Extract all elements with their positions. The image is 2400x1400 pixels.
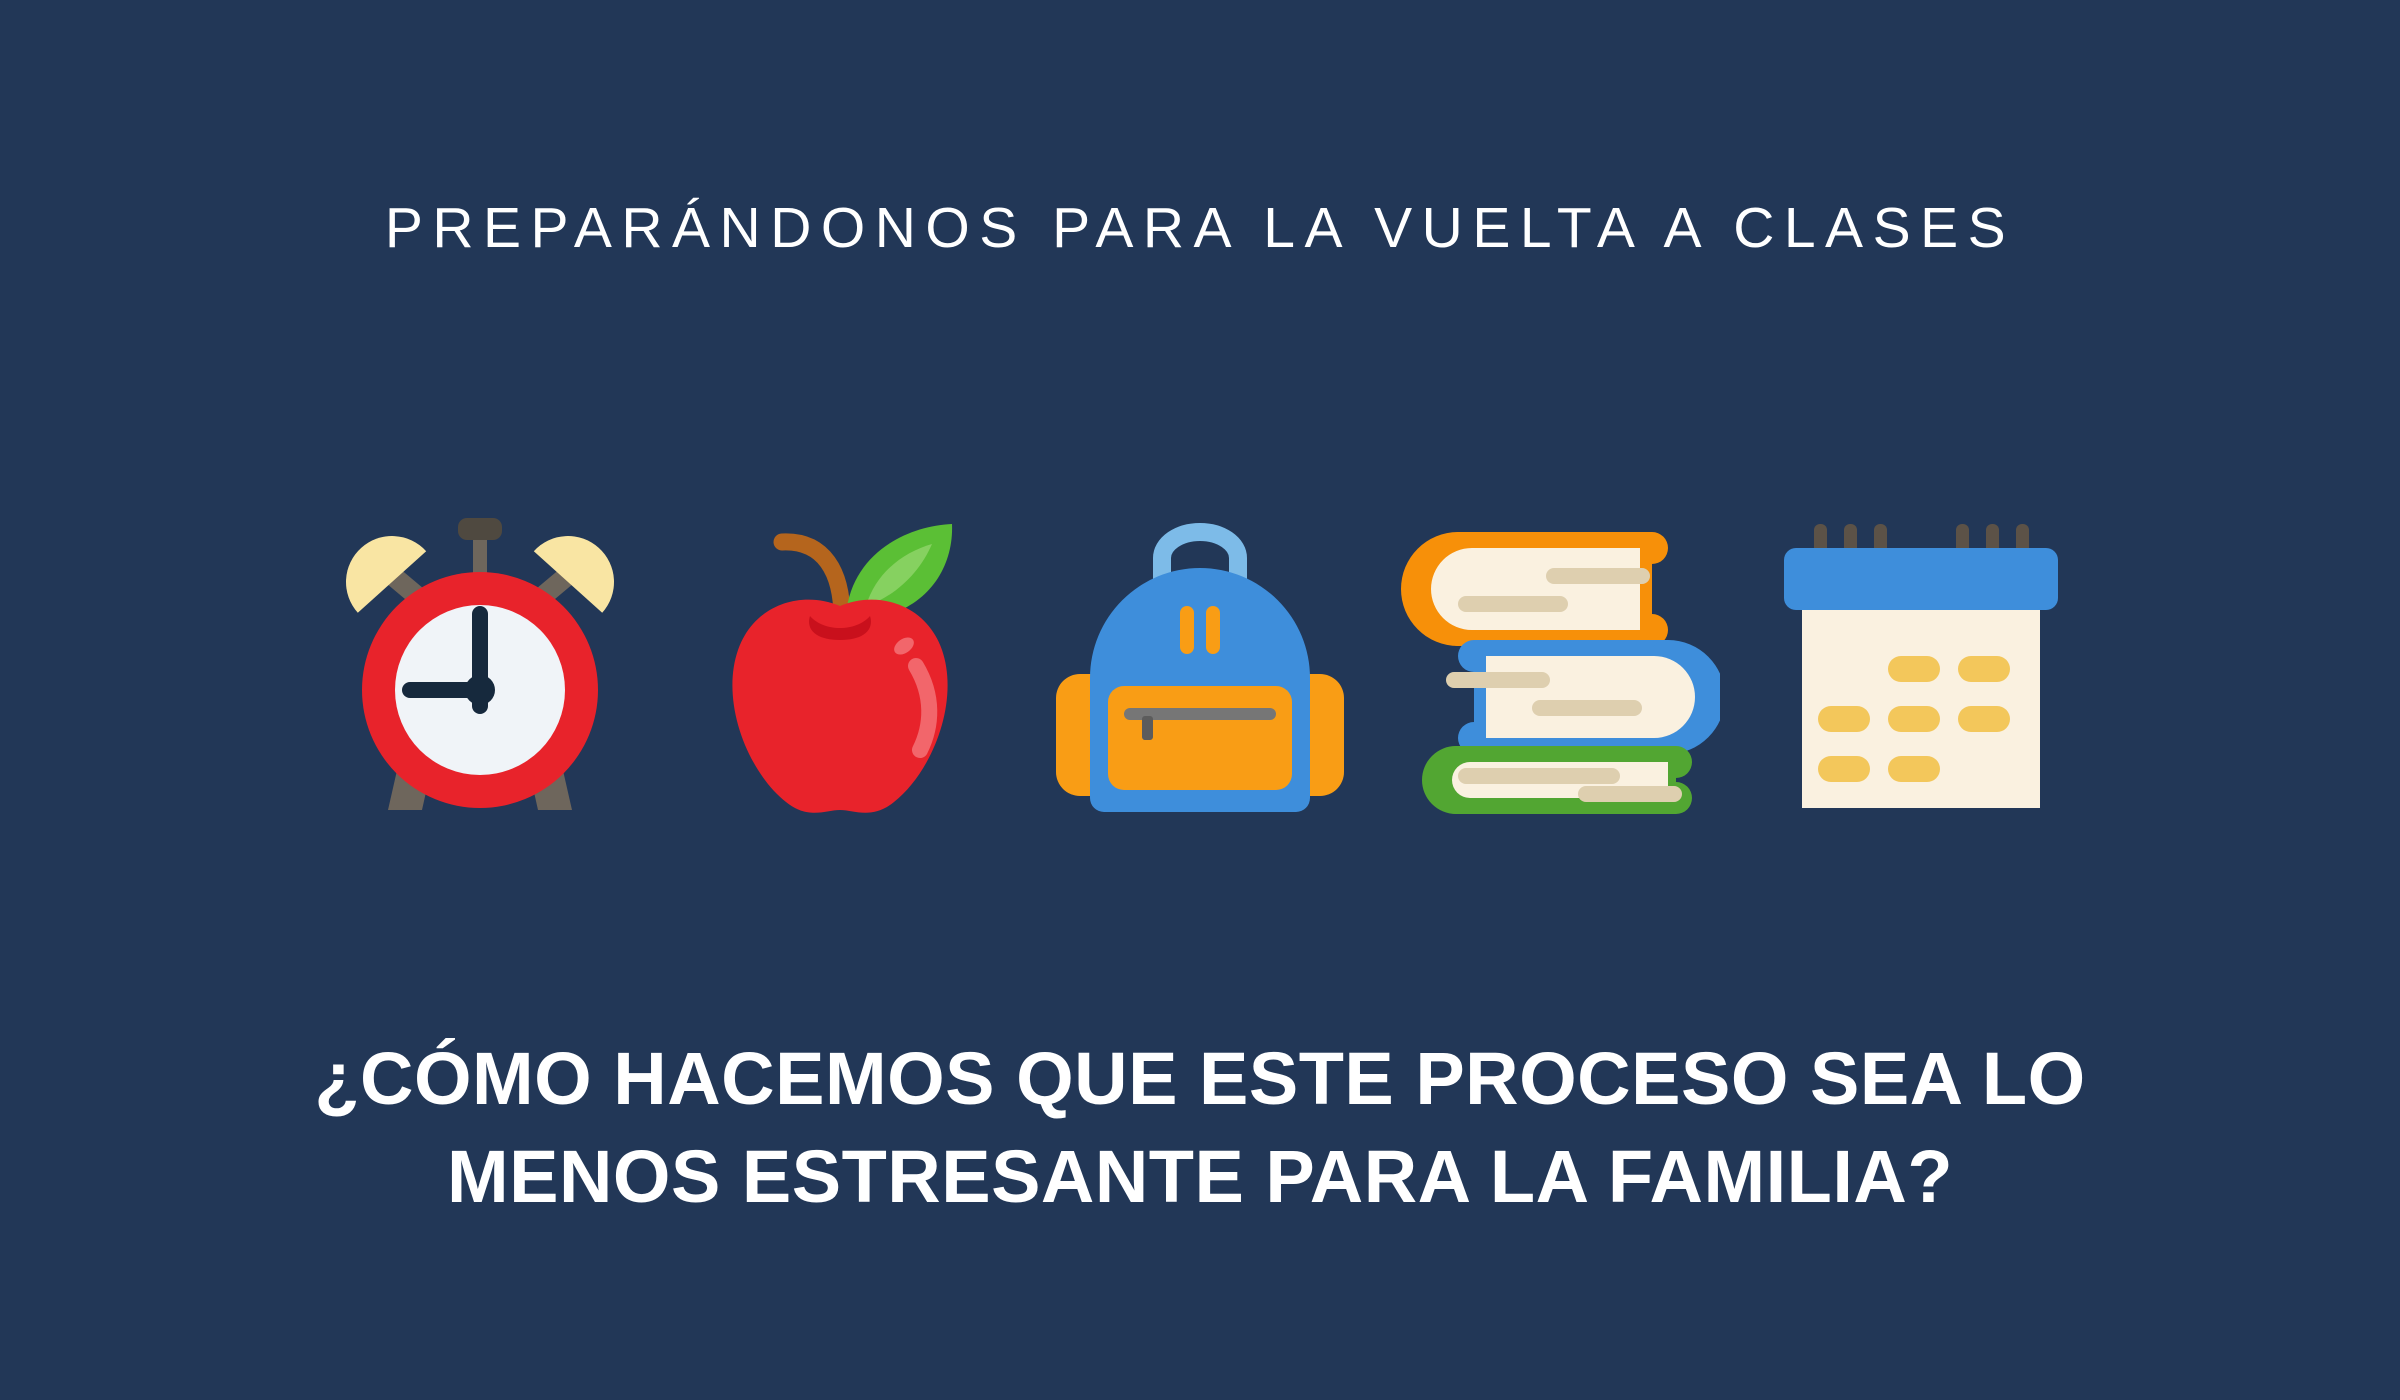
slide-root: PREPARÁNDONOS PARA LA VUELTA A CLASES (0, 0, 2400, 1400)
icon-row (0, 490, 2400, 830)
icon-cell-calendar (1740, 490, 2100, 830)
backpack-icon (1050, 510, 1350, 830)
icon-cell-apple (660, 490, 1020, 830)
book-stack-icon (1400, 510, 1720, 830)
alarm-clock-icon (330, 510, 630, 830)
calendar-icon (1770, 510, 2070, 830)
page-title: PREPARÁNDONOS PARA LA VUELTA A CLASES (0, 196, 2400, 262)
apple-icon (690, 510, 990, 830)
main-heading: ¿CÓMO HACEMOS QUE ESTE PROCESO SEA LO ME… (0, 1030, 2400, 1225)
icon-cell-backpack (1020, 490, 1380, 830)
icon-cell-alarm-clock (300, 490, 660, 830)
icon-cell-book-stack (1380, 490, 1740, 830)
